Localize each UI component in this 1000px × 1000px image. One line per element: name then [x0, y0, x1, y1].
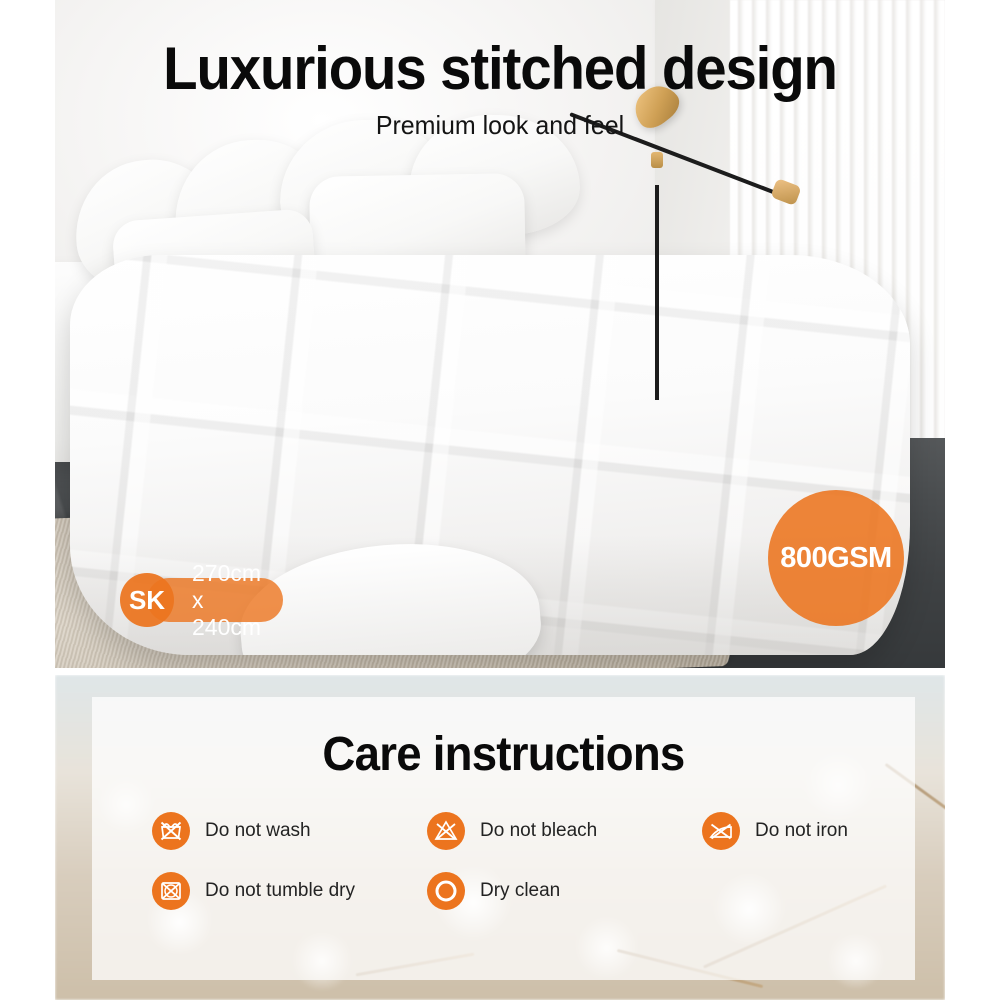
care-item-do-not-wash: Do not wash [152, 812, 427, 850]
care-item-label: Do not bleach [480, 820, 597, 842]
hero-subtitle: Premium look and feel [73, 110, 927, 141]
care-panel: Care instructions Do not wash [92, 697, 915, 980]
dry-clean-icon [427, 872, 465, 910]
size-badge-code: SK [120, 573, 174, 627]
hero-title: Luxurious stitched design [82, 34, 919, 103]
care-item-dry-clean: Dry clean [427, 872, 702, 910]
hero-section: Luxurious stitched design Premium look a… [55, 0, 945, 668]
care-title: Care instructions [113, 727, 895, 782]
care-item-do-not-tumble-dry: Do not tumble dry [152, 872, 427, 910]
care-item-label: Do not tumble dry [205, 880, 355, 902]
do-not-wash-icon [152, 812, 190, 850]
care-item-label: Do not wash [205, 820, 311, 842]
do-not-iron-icon [702, 812, 740, 850]
do-not-tumble-dry-icon [152, 872, 190, 910]
care-item-label: Do not iron [755, 820, 848, 842]
care-row: Do not tumble dry Dry clean [152, 872, 872, 910]
care-row: Do not wash Do not bleach [152, 812, 872, 850]
care-instructions-grid: Do not wash Do not bleach [152, 812, 872, 932]
lamp-pole [655, 185, 659, 400]
care-item-do-not-iron: Do not iron [702, 812, 848, 850]
care-item-label: Dry clean [480, 880, 560, 902]
care-section: Care instructions Do not wash [55, 675, 945, 1000]
lamp-joint [651, 152, 663, 168]
do-not-bleach-icon [427, 812, 465, 850]
care-item-do-not-bleach: Do not bleach [427, 812, 702, 850]
gsm-badge: 800GSM [768, 490, 904, 626]
